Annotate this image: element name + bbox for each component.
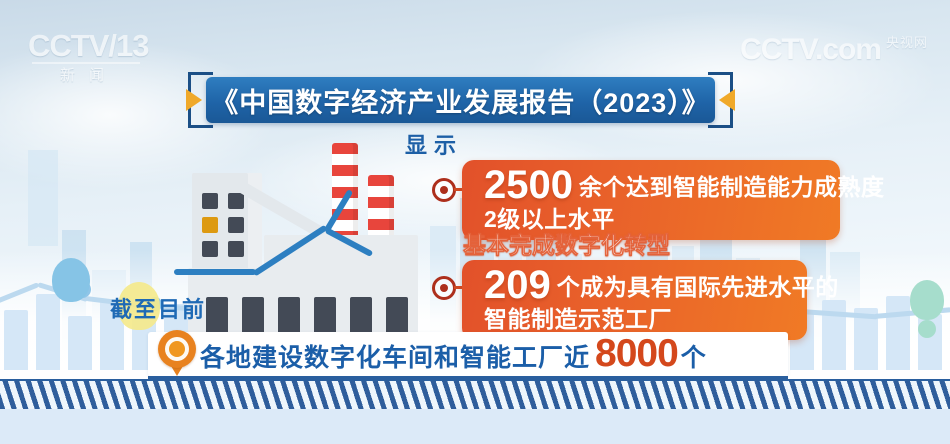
bottom-banner-number: 8000 [595, 332, 678, 376]
stat-line2: 智能制造示范工厂 [484, 307, 789, 332]
window [228, 241, 244, 257]
stat-number: 2500 [484, 163, 573, 207]
stat-label: 余个达到智能制造能力成熟度 [579, 174, 885, 200]
bottom-banner-text: 各地建设数字化车间和智能工厂近 [200, 338, 590, 374]
window [278, 297, 300, 335]
watermark-chinese: 央视网 [886, 32, 928, 51]
stat-card-209: 209个成为具有国际先进水平的 智能制造示范工厂 [462, 260, 807, 340]
cctv-watermark: CCTV.com 央视网 [740, 32, 928, 65]
window [228, 193, 244, 209]
window [314, 297, 336, 335]
balloon-icon [52, 258, 90, 302]
window [242, 297, 264, 335]
window [202, 193, 218, 209]
window [386, 297, 408, 335]
stat-number: 209 [484, 263, 551, 307]
cctv13-logo: CCTV/13 新闻 [28, 30, 188, 82]
stat-caption-1: 基本完成数字化转型 [463, 226, 670, 260]
location-pin-icon [158, 330, 196, 376]
balloon-icon [910, 280, 944, 320]
chart-point-dot [918, 320, 936, 338]
window [228, 217, 244, 233]
bottom-summary-banner: 各地建设数字化车间和智能工厂近 8000 个 [148, 332, 788, 376]
window [202, 241, 218, 257]
triangle-left-icon [719, 89, 735, 111]
infographic-screenshot: 《中国数字经济产业发展报告（2023）》 显示 2500余个达到智能制造能力成熟… [0, 0, 950, 444]
target-dot-icon [432, 276, 456, 300]
report-title-banner: 《中国数字经济产业发展报告（2023）》 [188, 72, 733, 128]
footer-stripe-band [0, 379, 950, 411]
window-highlighted [202, 217, 218, 233]
footer-bar [0, 409, 950, 444]
window [350, 297, 372, 335]
factory-icon [180, 135, 470, 350]
cctv13-logo-text: CCTV/13 [28, 30, 188, 61]
target-dot-icon [432, 178, 456, 202]
triangle-right-icon [186, 89, 202, 111]
stat-label: 个成为具有国际先进水平的 [557, 274, 839, 300]
bottom-banner-unit: 个 [681, 338, 707, 374]
window [206, 297, 228, 335]
page-title: 《中国数字经济产业发展报告（2023）》 [211, 81, 710, 120]
cctv13-logo-sub: 新闻 [60, 64, 188, 85]
watermark-latin: CCTV.com [740, 35, 881, 65]
title-box: 《中国数字经济产业发展报告（2023）》 [206, 77, 715, 123]
subtitle-shows: 显示 [405, 128, 463, 160]
as-of-label: 截至目前 [110, 292, 206, 324]
